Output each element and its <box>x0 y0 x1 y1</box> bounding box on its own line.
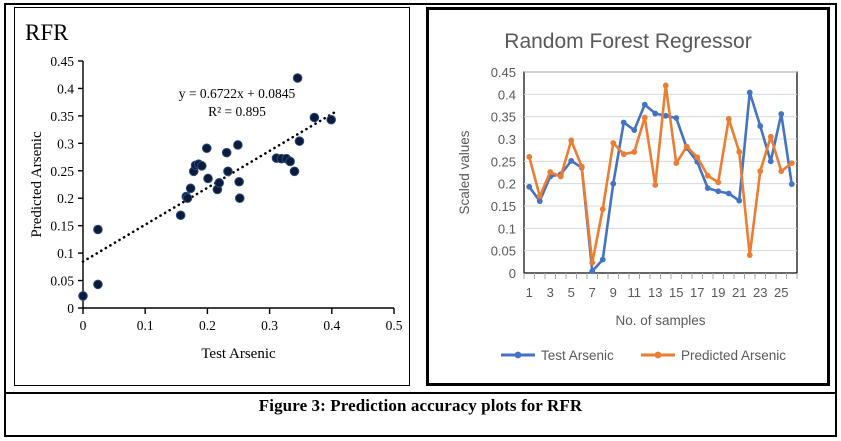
line-chart-y-tick-label: 0.05 <box>491 244 516 259</box>
line-chart-data-point <box>642 115 648 121</box>
line-chart-y-axis-title: Scaled values <box>457 130 472 214</box>
scatter-data-point <box>94 280 103 289</box>
line-chart-x-tick-label: 3 <box>547 285 554 300</box>
scatter-x-axis-title: Test Arsenic <box>201 346 276 362</box>
scatter-data-point <box>224 167 233 176</box>
scatter-data-point <box>198 162 207 171</box>
scatter-data-point <box>176 211 185 220</box>
scatter-data-point <box>234 141 243 150</box>
line-chart-data-point <box>579 164 585 170</box>
line-chart-data-point <box>757 123 763 129</box>
line-chart-data-point <box>631 149 637 155</box>
line-chart-y-tick-label: 0.15 <box>491 199 516 214</box>
scatter-y-tick-label: 0.3 <box>57 136 74 151</box>
scatter-y-tick-label: 0.25 <box>50 164 74 179</box>
scatter-data-point <box>215 179 224 188</box>
scatter-data-point <box>286 157 295 166</box>
scatter-data-point <box>295 137 304 146</box>
line-chart-x-tick-label: 23 <box>753 285 767 300</box>
line-chart-data-point <box>705 185 711 191</box>
line-chart-svg: 00.050.10.150.20.250.30.350.40.451357911… <box>429 10 827 383</box>
line-chart-data-point <box>568 158 574 164</box>
line-chart-data-point <box>621 151 627 157</box>
line-chart-series-line <box>529 85 792 262</box>
figure-container: RFR 00.050.10.150.20.250.30.350.40.4500.… <box>0 0 841 441</box>
line-chart-data-point <box>768 158 774 164</box>
scatter-data-point <box>222 148 231 157</box>
line-chart-data-point <box>631 127 637 133</box>
scatter-y-tick-label: 0.15 <box>50 219 74 234</box>
line-chart-data-point <box>652 111 658 117</box>
scatter-trendline-equation: y = 0.6722x + 0.0845 <box>179 86 296 101</box>
line-chart-data-point <box>715 188 721 194</box>
line-chart-y-tick-label: 0.2 <box>498 177 516 192</box>
scatter-x-tick-label: 0.2 <box>199 318 216 333</box>
line-chart-x-tick-label: 9 <box>610 285 617 300</box>
line-chart-data-point <box>642 102 648 108</box>
scatter-y-tick-label: 0.45 <box>50 54 74 69</box>
line-chart-data-point <box>715 179 721 185</box>
scatter-y-tick-label: 0.35 <box>50 109 74 124</box>
scatter-plot-panel: RFR 00.050.10.150.20.250.30.350.40.4500.… <box>14 7 410 386</box>
line-chart-data-point <box>694 154 700 160</box>
legend-marker-icon <box>655 352 662 359</box>
scatter-data-point <box>94 225 103 234</box>
line-chart-data-point <box>558 174 564 180</box>
line-chart-data-point <box>663 83 669 89</box>
figure-caption: Figure 3: Prediction accuracy plots for … <box>4 396 837 416</box>
scatter-x-tick-label: 0 <box>80 318 87 333</box>
line-chart-data-point <box>757 168 763 174</box>
line-chart-data-point <box>526 184 532 190</box>
line-chart-data-point <box>726 191 732 197</box>
scatter-data-point <box>290 167 299 176</box>
scatter-data-point <box>183 194 192 203</box>
line-chart-y-tick-label: 0.4 <box>498 87 516 102</box>
line-chart-data-point <box>600 257 606 263</box>
line-chart-x-axis-title: No. of samples <box>615 313 705 328</box>
scatter-data-point <box>204 174 213 183</box>
line-chart-x-tick-label: 17 <box>690 285 704 300</box>
scatter-chart-svg: 00.050.10.150.20.250.30.350.40.4500.10.2… <box>15 8 409 385</box>
line-chart-y-tick-label: 0.35 <box>491 110 516 125</box>
line-chart-data-point <box>610 140 616 146</box>
line-chart-x-tick-label: 5 <box>568 285 575 300</box>
line-chart-data-point <box>652 182 658 188</box>
scatter-data-point <box>235 194 244 203</box>
scatter-y-tick-label: 0.4 <box>57 81 74 96</box>
line-chart-x-tick-label: 19 <box>711 285 725 300</box>
line-chart-x-tick-label: 21 <box>732 285 746 300</box>
scatter-x-tick-label: 0.4 <box>323 318 340 333</box>
legend-label: Test Arsenic <box>541 348 614 363</box>
line-chart-x-tick-label: 15 <box>669 285 683 300</box>
line-chart-data-point <box>705 173 711 179</box>
line-chart-data-point <box>568 137 574 143</box>
line-chart-data-point <box>768 134 774 140</box>
line-chart-data-point <box>526 154 532 160</box>
scatter-data-point <box>310 113 319 122</box>
line-chart-data-point <box>610 181 616 187</box>
line-chart-data-point <box>736 149 742 155</box>
line-chart-data-point <box>684 144 690 150</box>
line-chart-data-point <box>726 116 732 122</box>
line-chart-y-tick-label: 0.25 <box>491 154 516 169</box>
line-chart-data-point <box>789 160 795 166</box>
scatter-y-tick-label: 0 <box>67 301 74 316</box>
scatter-x-tick-label: 0.1 <box>137 318 154 333</box>
line-chart-x-tick-label: 11 <box>628 285 642 300</box>
line-chart-y-tick-label: 0.1 <box>498 221 516 236</box>
legend-marker-icon <box>515 352 522 359</box>
line-chart-y-tick-label: 0 <box>509 266 516 281</box>
scatter-y-tick-label: 0.2 <box>57 191 74 206</box>
scatter-trendline <box>83 110 338 261</box>
scatter-data-point <box>327 115 336 124</box>
scatter-x-tick-label: 0.3 <box>261 318 278 333</box>
scatter-data-point <box>186 184 195 193</box>
line-chart-data-point <box>747 252 753 258</box>
scatter-data-point <box>235 177 244 186</box>
legend-label: Predicted Arsenic <box>681 348 786 363</box>
scatter-data-point <box>202 144 211 153</box>
line-chart-x-tick-label: 1 <box>526 285 533 300</box>
scatter-y-tick-label: 0.1 <box>57 246 74 261</box>
scatter-data-point <box>79 292 88 301</box>
line-chart-data-point <box>736 198 742 204</box>
line-chart-y-tick-label: 0.45 <box>491 65 516 80</box>
line-chart-data-point <box>778 111 784 117</box>
caption-divider <box>4 392 837 394</box>
line-chart-data-point <box>778 168 784 174</box>
line-chart-data-point <box>673 115 679 121</box>
line-chart-data-point <box>621 120 627 126</box>
line-chart-data-point <box>789 181 795 187</box>
line-chart-panel: Random Forest Regressor 00.050.10.150.20… <box>426 7 830 386</box>
line-chart-data-point <box>673 160 679 166</box>
line-chart-x-tick-label: 25 <box>774 285 788 300</box>
scatter-y-tick-label: 0.05 <box>50 274 74 289</box>
line-chart-data-point <box>547 169 553 175</box>
scatter-x-tick-label: 0.5 <box>386 318 403 333</box>
line-chart-x-tick-label: 7 <box>589 285 596 300</box>
line-chart-y-tick-label: 0.3 <box>498 132 516 147</box>
line-chart-data-point <box>589 268 595 274</box>
line-chart-x-tick-label: 13 <box>648 285 662 300</box>
scatter-y-axis-title: Predicted Arsenic <box>29 131 45 238</box>
line-chart-data-point <box>600 206 606 212</box>
line-chart-data-point <box>589 260 595 266</box>
line-chart-data-point <box>747 90 753 96</box>
scatter-trendline-r2: R² = 0.895 <box>208 104 266 119</box>
line-chart-data-point <box>537 193 543 199</box>
scatter-data-point <box>293 74 302 83</box>
line-chart-plot-border <box>524 72 797 273</box>
